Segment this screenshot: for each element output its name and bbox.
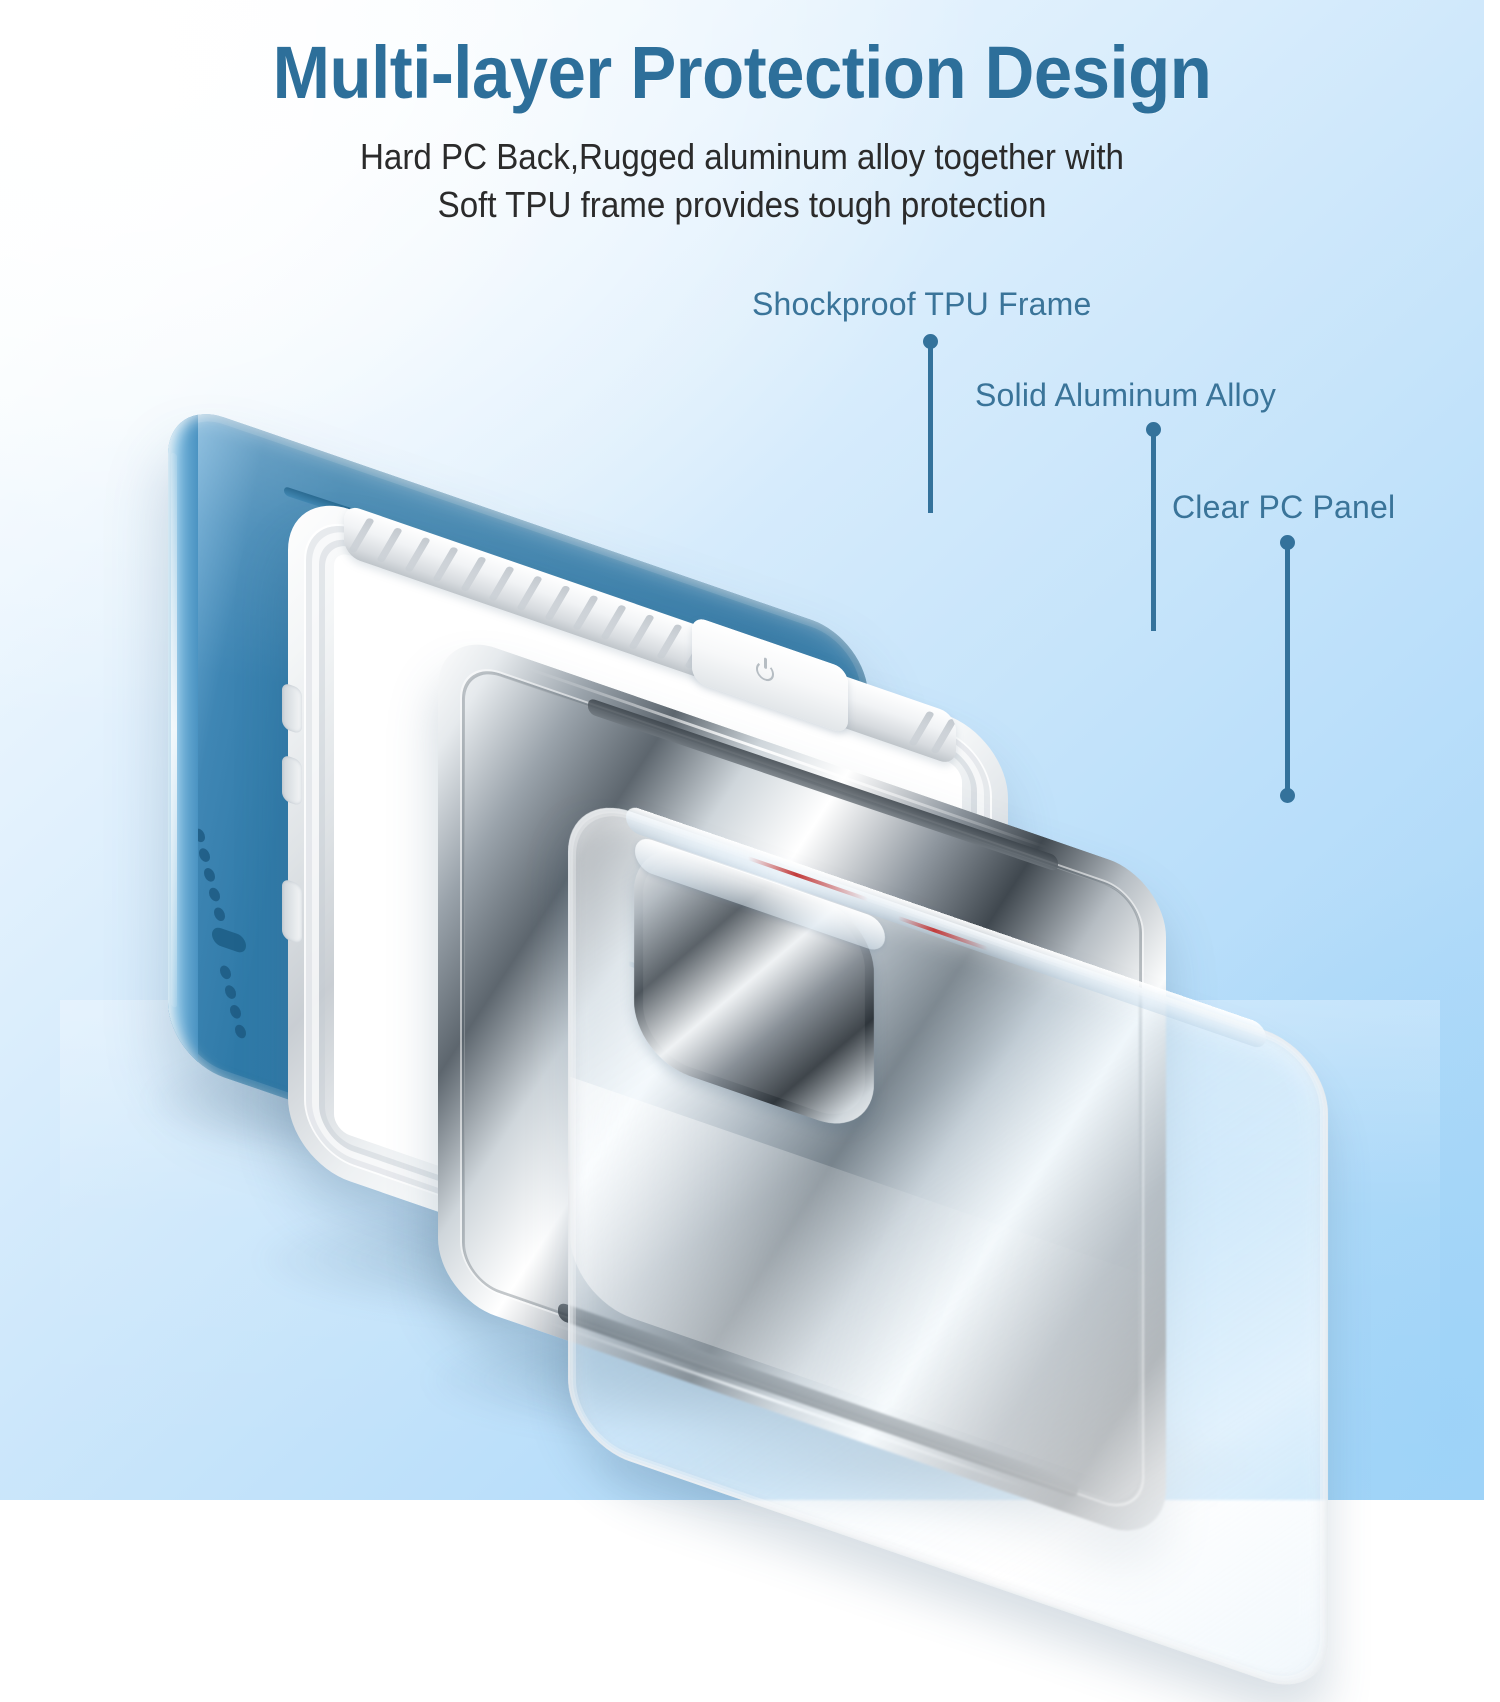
callout-clear-pc-panel-label: Clear PC Panel — [1172, 489, 1395, 525]
leader-line-tpu-frame — [928, 341, 933, 513]
side-button-nub-power — [282, 878, 302, 945]
pc-panel-sheen — [570, 1077, 1326, 1557]
subtitle-line-2: Soft TPU frame provides tough protection — [59, 181, 1424, 229]
callout-clear-pc-panel: Clear PC Panel — [1172, 489, 1395, 526]
power-icon — [756, 659, 774, 683]
leader-line-clear-pc-panel — [1285, 542, 1290, 796]
callout-tpu-frame-label: Shockproof TPU Frame — [752, 286, 1092, 322]
callout-aluminum-alloy-label: Solid Aluminum Alloy — [975, 377, 1276, 413]
clear-pc-panel-layer — [568, 790, 1328, 1702]
side-button-nub-upper — [282, 682, 302, 735]
subtitle-line-1: Hard PC Back,Rugged aluminum alloy toget… — [59, 133, 1424, 181]
callout-aluminum-alloy: Solid Aluminum Alloy — [975, 377, 1276, 414]
callout-tpu-frame: Shockproof TPU Frame — [752, 286, 1092, 323]
product-feature-image: Multi-layer Protection Design Hard PC Ba… — [0, 0, 1500, 1500]
side-button-nub-lower — [282, 754, 302, 807]
leader-line-aluminum-alloy — [1151, 429, 1156, 631]
page-title: Multi-layer Protection Design — [52, 30, 1432, 115]
page-subtitle: Hard PC Back,Rugged aluminum alloy toget… — [59, 133, 1424, 228]
